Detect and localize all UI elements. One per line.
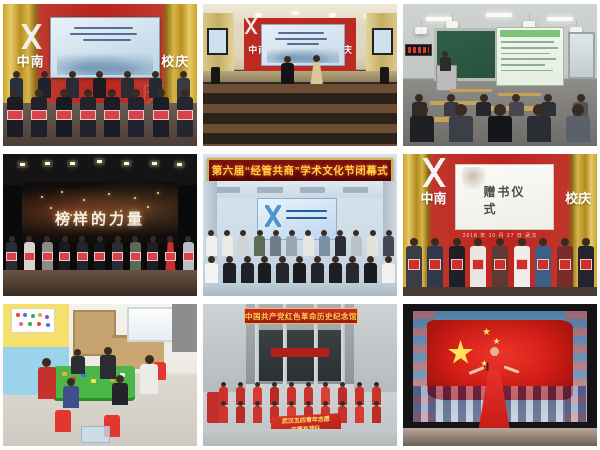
led-scrolling-banner — [405, 44, 432, 56]
pendant-lamp-icon — [446, 21, 458, 28]
window — [568, 32, 595, 79]
museum-sign-text: 中国共产党红色革命历史纪念馆 — [245, 311, 357, 322]
singer-head — [490, 347, 499, 356]
bookcase — [172, 304, 197, 352]
volunteer-adult — [38, 358, 56, 399]
museum-name-sign: 中国共产党红色革命历史纪念馆 — [244, 308, 359, 324]
screen-title-text: 赠书仪式 — [484, 183, 531, 217]
stage-floor — [403, 428, 597, 446]
lecturer — [440, 51, 451, 71]
child — [71, 349, 85, 374]
interior-banner — [271, 348, 329, 357]
storage-bin — [81, 426, 110, 444]
volunteer-adult — [100, 347, 116, 379]
collage-cell-2[interactable]: 中南 校庆 — [200, 0, 400, 150]
stage-floor — [403, 287, 597, 296]
photo-solo-singer-flag-backdrop[interactable] — [403, 304, 597, 446]
child — [112, 375, 128, 405]
hall-floor — [203, 283, 397, 296]
collage-cell-7[interactable] — [0, 300, 200, 450]
projection-screen — [261, 24, 344, 66]
photo-children-activity-room[interactable] — [3, 304, 197, 446]
collage-cell-6[interactable]: 中南 校庆 赠书仪式 2018 年 10 月 27 日 武汉 — [400, 150, 600, 300]
stage-floor — [3, 270, 197, 296]
students-row-front — [403, 115, 597, 142]
front-row-awardees — [3, 78, 197, 138]
university-logo-icon — [422, 158, 445, 186]
event-banner-text: 第六届“经管共商”学术文化节闭幕式 — [212, 163, 389, 178]
pendant-lamp-icon — [415, 27, 427, 34]
honoree-line-up — [3, 214, 197, 276]
collage-cell-1[interactable]: 中南 校庆 庆 — [0, 0, 200, 150]
photo-hosts-lecture-hall[interactable]: 中南 校庆 — [203, 4, 397, 146]
university-logo-icon — [244, 18, 259, 34]
child-chair — [55, 410, 71, 432]
building-wing-left — [203, 304, 246, 392]
wall-poster — [11, 308, 56, 333]
collage-cell-3[interactable] — [400, 0, 600, 150]
photo-classroom-lecture[interactable] — [403, 4, 597, 146]
stage-platform — [203, 71, 397, 82]
volunteer-adult — [140, 355, 158, 394]
recipients-row — [403, 219, 597, 290]
collage-cell-9[interactable] — [400, 300, 600, 450]
side-display-left — [207, 28, 228, 55]
photo-dark-stage-awards[interactable]: 榜样的力量 — [3, 154, 197, 296]
collage-cell-5[interactable]: 第六届“经管共商”学术文化节闭幕式 — [200, 150, 400, 300]
collage-cell-4[interactable]: 榜样的力量 — [0, 150, 200, 300]
hall-ceiling — [203, 181, 397, 198]
event-led-banner: 第六届“经管共商”学术文化节闭幕式 — [207, 158, 393, 183]
window — [127, 307, 174, 342]
red-gown — [478, 369, 511, 434]
microphone-icon — [487, 362, 489, 371]
photo-book-donation-ceremony[interactable]: 中南 校庆 赠书仪式 2018 年 10 月 27 日 武汉 — [403, 154, 597, 296]
backdrop-text-right: 校庆 — [565, 188, 591, 207]
solo-singer — [478, 347, 511, 435]
photo-award-ceremony-red-backdrop[interactable]: 中南 校庆 庆 — [3, 4, 197, 146]
audience-seating — [203, 84, 397, 146]
photo-collage-grid: 中南 校庆 庆 — [0, 0, 600, 450]
university-logo-icon — [19, 24, 44, 50]
projection-screen — [496, 27, 564, 86]
building-wing-right — [354, 304, 397, 392]
photo-museum-volunteer-group[interactable]: 中国共产党红色革命历史纪念馆 — [203, 304, 397, 446]
student-seating-area — [403, 78, 597, 146]
backdrop-text-left: 中南 — [420, 188, 446, 207]
collage-cell-8[interactable]: 中国共产党红色革命历史纪念馆 — [200, 300, 400, 450]
side-display-right — [372, 28, 393, 55]
group-front-row — [203, 245, 397, 288]
child — [63, 378, 79, 408]
plaza-ground — [203, 429, 397, 446]
photo-festival-closing-group[interactable]: 第六届“经管共商”学术文化节闭幕式 — [203, 154, 397, 296]
